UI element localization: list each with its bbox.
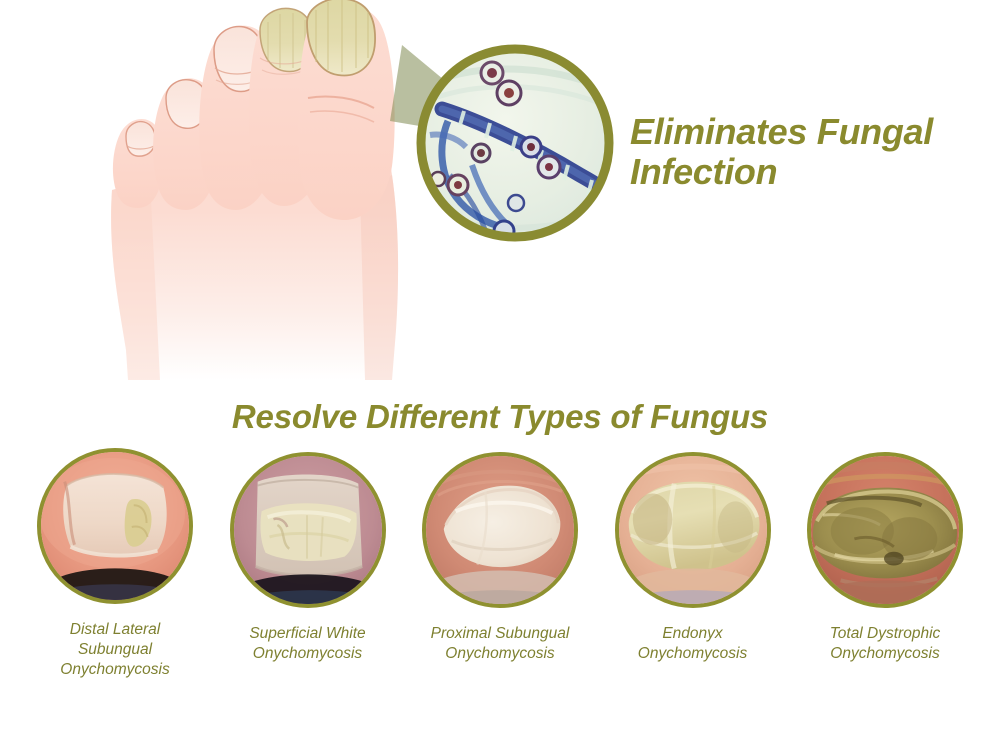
nail-photo-proximal-subungual-onychomycosis [422,452,578,608]
card-total-dystrophic[interactable]: Total Dystrophic Onychomycosis [792,452,978,664]
caption-distal-lateral-subungual: Distal Lateral Subungual Onychomycosis [60,620,169,679]
headline-line-2: Infection [630,152,990,192]
caption-endonyx: Endonyx Onychomycosis [638,624,747,664]
toenail-little [126,122,155,157]
card-distal-lateral-subungual[interactable]: Distal Lateral Subungual Onychomycosis [22,448,208,679]
nail-photo-distal-lateral-subungual-onychomycosis [37,448,193,604]
caption-total-dystrophic: Total Dystrophic Onychomycosis [830,624,941,664]
infographic-canvas: Eliminates Fungal Infection Resolve Diff… [0,0,1000,729]
headline: Eliminates Fungal Infection [630,112,990,193]
caption-superficial-white: Superficial White Onychomycosis [249,624,365,664]
magnifier-svg [330,25,630,275]
nail-photo-endonyx-onychomycosis [615,452,771,608]
fungus-types-row: Distal Lateral Subungual Onychomycosis [18,448,982,698]
microscope-magnifier-group [330,25,630,275]
nail-photo-total-dystrophic-onychomycosis [807,452,963,608]
card-superficial-white[interactable]: Superficial White Onychomycosis [215,452,401,664]
card-endonyx[interactable]: Endonyx Onychomycosis [600,452,786,664]
section-title: Resolve Different Types of Fungus [0,398,1000,436]
card-proximal-subungual[interactable]: Proximal Subungual Onychomycosis [407,452,593,664]
headline-line-1: Eliminates Fungal [630,112,990,152]
caption-proximal-subungual: Proximal Subungual Onychomycosis [431,624,570,664]
nail-photo-superficial-white-onychomycosis [230,452,386,608]
